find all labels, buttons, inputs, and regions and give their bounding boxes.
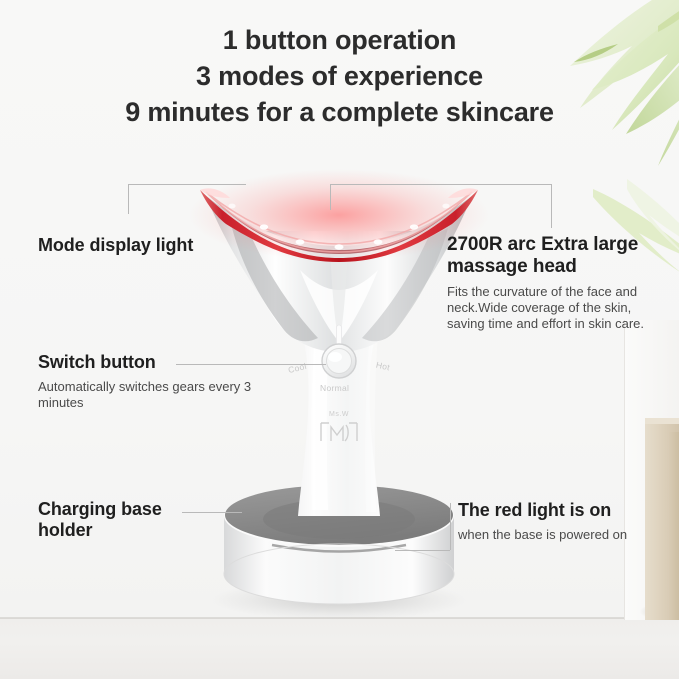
leader-line-redlight-horizontal <box>395 550 450 551</box>
callout-switch-button-title: Switch button <box>38 352 253 373</box>
callout-red-light-title: The red light is on <box>458 500 658 521</box>
callout-charging-base-holder: Charging base holder <box>38 499 188 541</box>
callout-switch-button-body: Automatically switches gears every 3 min… <box>38 379 253 411</box>
device-brand-text: Ms.W <box>311 411 367 418</box>
leader-line-head-horizontal <box>330 184 552 185</box>
device-brand-logo-icon <box>317 419 361 445</box>
leader-line-redlight-vertical <box>450 503 451 550</box>
callout-massage-head-body: Fits the curvature of the face and neck.… <box>447 284 657 332</box>
product-infographic: 1 button operation 3 modes of experience… <box>0 0 679 679</box>
callout-massage-head: 2700R arc Extra large massage head Fits … <box>447 234 657 332</box>
callout-red-light: The red light is on when the base is pow… <box>458 500 658 543</box>
leader-line-mode-horizontal <box>128 184 246 185</box>
leader-line-charging <box>182 512 242 513</box>
leader-line-mode-vertical <box>128 184 129 214</box>
callout-red-light-body: when the base is powered on <box>458 527 658 543</box>
leader-line-head-vertical-left <box>330 184 331 210</box>
callout-switch-button: Switch button Automatically switches gea… <box>38 352 253 411</box>
callout-mode-display-light: Mode display light <box>38 235 193 256</box>
callout-charging-base-holder-title: Charging base holder <box>38 499 188 541</box>
device-mode-label-normal: Normal <box>320 383 349 393</box>
leader-line-head-vertical-right <box>551 184 552 228</box>
callout-massage-head-title: 2700R arc Extra large massage head <box>447 234 657 278</box>
callout-mode-display-light-title: Mode display light <box>38 235 193 256</box>
product-device-illustration <box>0 0 679 679</box>
